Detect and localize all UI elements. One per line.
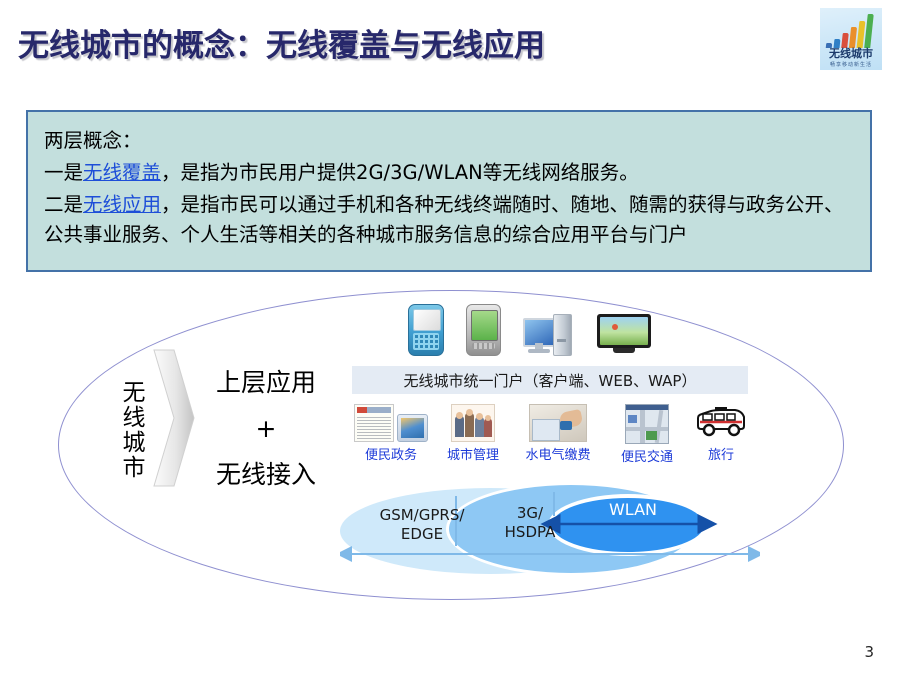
pc-monitor-base — [528, 349, 550, 353]
app-label-government: 便民政务 — [348, 444, 434, 463]
threeg-line-2: HSDPA — [490, 523, 570, 542]
tv-screen — [600, 317, 648, 345]
payment-device — [560, 421, 572, 430]
line1-suffix: ，是指为市民用户提供2G/3G/WLAN等无线网络服务。 — [161, 161, 639, 184]
line2-highlight: 无线应用 — [83, 193, 161, 216]
line1-prefix: 一是 — [44, 161, 83, 184]
device-icon-row — [408, 304, 708, 356]
pda-device-icon — [466, 304, 501, 356]
page-title: 无线城市的概念：无线覆盖与无线应用 — [18, 20, 545, 65]
concept-line-1: 一是无线覆盖，是指为市民用户提供2G/3G/WLAN等无线网络服务。 — [44, 158, 854, 188]
pda-screen — [471, 310, 498, 341]
phone-keyboard — [413, 333, 439, 350]
gsm-line-2: EDGE — [362, 525, 482, 544]
concept-heading: 两层概念： — [44, 126, 854, 156]
gsm-line-1: GSM/GPRS/ — [362, 506, 482, 525]
page-number: 3 — [864, 643, 874, 661]
phone-screen — [413, 309, 441, 331]
app-item-government[interactable]: 便民政务 — [348, 404, 434, 463]
threeg-line-1: 3G/ — [490, 504, 570, 523]
app-item-utility-payment[interactable]: 水电气缴费 — [512, 404, 604, 463]
application-icon-row: 便民政务 城市管理 水电气缴费 — [348, 404, 752, 466]
map-green-area — [646, 431, 657, 440]
network-label-3g: 3G/ HSDPA — [490, 504, 570, 542]
logo-name-text: 无线城市 — [820, 45, 882, 61]
wireless-city-logo: 无线城市 畅享移动新生活 — [820, 8, 882, 70]
tv-frame — [597, 314, 651, 348]
bus-vehicle-icon — [695, 406, 747, 438]
signal-bars-icon — [826, 14, 878, 48]
line2-suffix: ，是指市民可以通过手机和各种无线终端随时、随地、随需的获得与政务公开、公共事业服… — [44, 193, 844, 246]
mobile-phone-icon — [408, 304, 444, 356]
payment-desk — [532, 419, 560, 441]
layer-plus-sign: + — [196, 406, 336, 452]
app-label-city-management: 城市管理 — [434, 444, 512, 463]
line1-highlight: 无线覆盖 — [83, 161, 161, 184]
app-label-travel: 旅行 — [690, 444, 752, 463]
map-blue-area — [628, 415, 637, 423]
desktop-computer-icon — [523, 312, 575, 356]
app-item-city-management[interactable]: 城市管理 — [434, 404, 512, 463]
newspaper-and-monitor-icon — [348, 404, 434, 442]
pc-tower — [553, 314, 572, 356]
pda-buttons — [472, 343, 495, 349]
logo-tagline-text: 畅享移动新生活 — [820, 61, 882, 68]
network-layer-group: GSM/GPRS/ EDGE 3G/ HSDPA WLAN — [340, 482, 760, 578]
network-label-gsm: GSM/GPRS/ EDGE — [362, 506, 482, 544]
line2-prefix: 二是 — [44, 193, 83, 216]
concept-line-2: 二是无线应用，是指市民可以通过手机和各种无线终端随时、随地、随需的获得与政务公开… — [44, 190, 854, 250]
newspaper-icon — [354, 404, 394, 442]
chevron-right-arrow-icon — [152, 348, 196, 488]
app-label-utility-payment: 水电气缴费 — [512, 444, 604, 463]
television-icon — [597, 314, 651, 356]
app-item-travel[interactable]: 旅行 — [690, 404, 752, 463]
monitor-icon — [397, 414, 428, 442]
layer-line-2: 无线接入 — [196, 452, 336, 498]
people-meeting-icon — [451, 404, 495, 442]
app-item-transport[interactable]: 便民交通 — [604, 404, 690, 465]
tv-stand — [613, 348, 635, 353]
unified-portal-bar: 无线城市统一门户（客户端、WEB、WAP） — [352, 366, 748, 394]
diagram-vertical-label: 无线城市 — [115, 380, 145, 480]
payment-terminal-icon — [529, 404, 587, 442]
app-label-transport: 便民交通 — [604, 446, 690, 465]
layer-description: 上层应用 + 无线接入 — [196, 360, 336, 498]
layer-line-1: 上层应用 — [196, 360, 336, 406]
wireless-city-diagram: 无线城市 上层应用 + 无线接入 — [0, 282, 900, 612]
gps-navigation-map-icon — [625, 404, 669, 444]
monitor-screen — [401, 418, 424, 438]
concept-text-box: 两层概念： 一是无线覆盖，是指为市民用户提供2G/3G/WLAN等无线网络服务。… — [26, 110, 872, 272]
network-label-wlan: WLAN — [578, 500, 688, 519]
